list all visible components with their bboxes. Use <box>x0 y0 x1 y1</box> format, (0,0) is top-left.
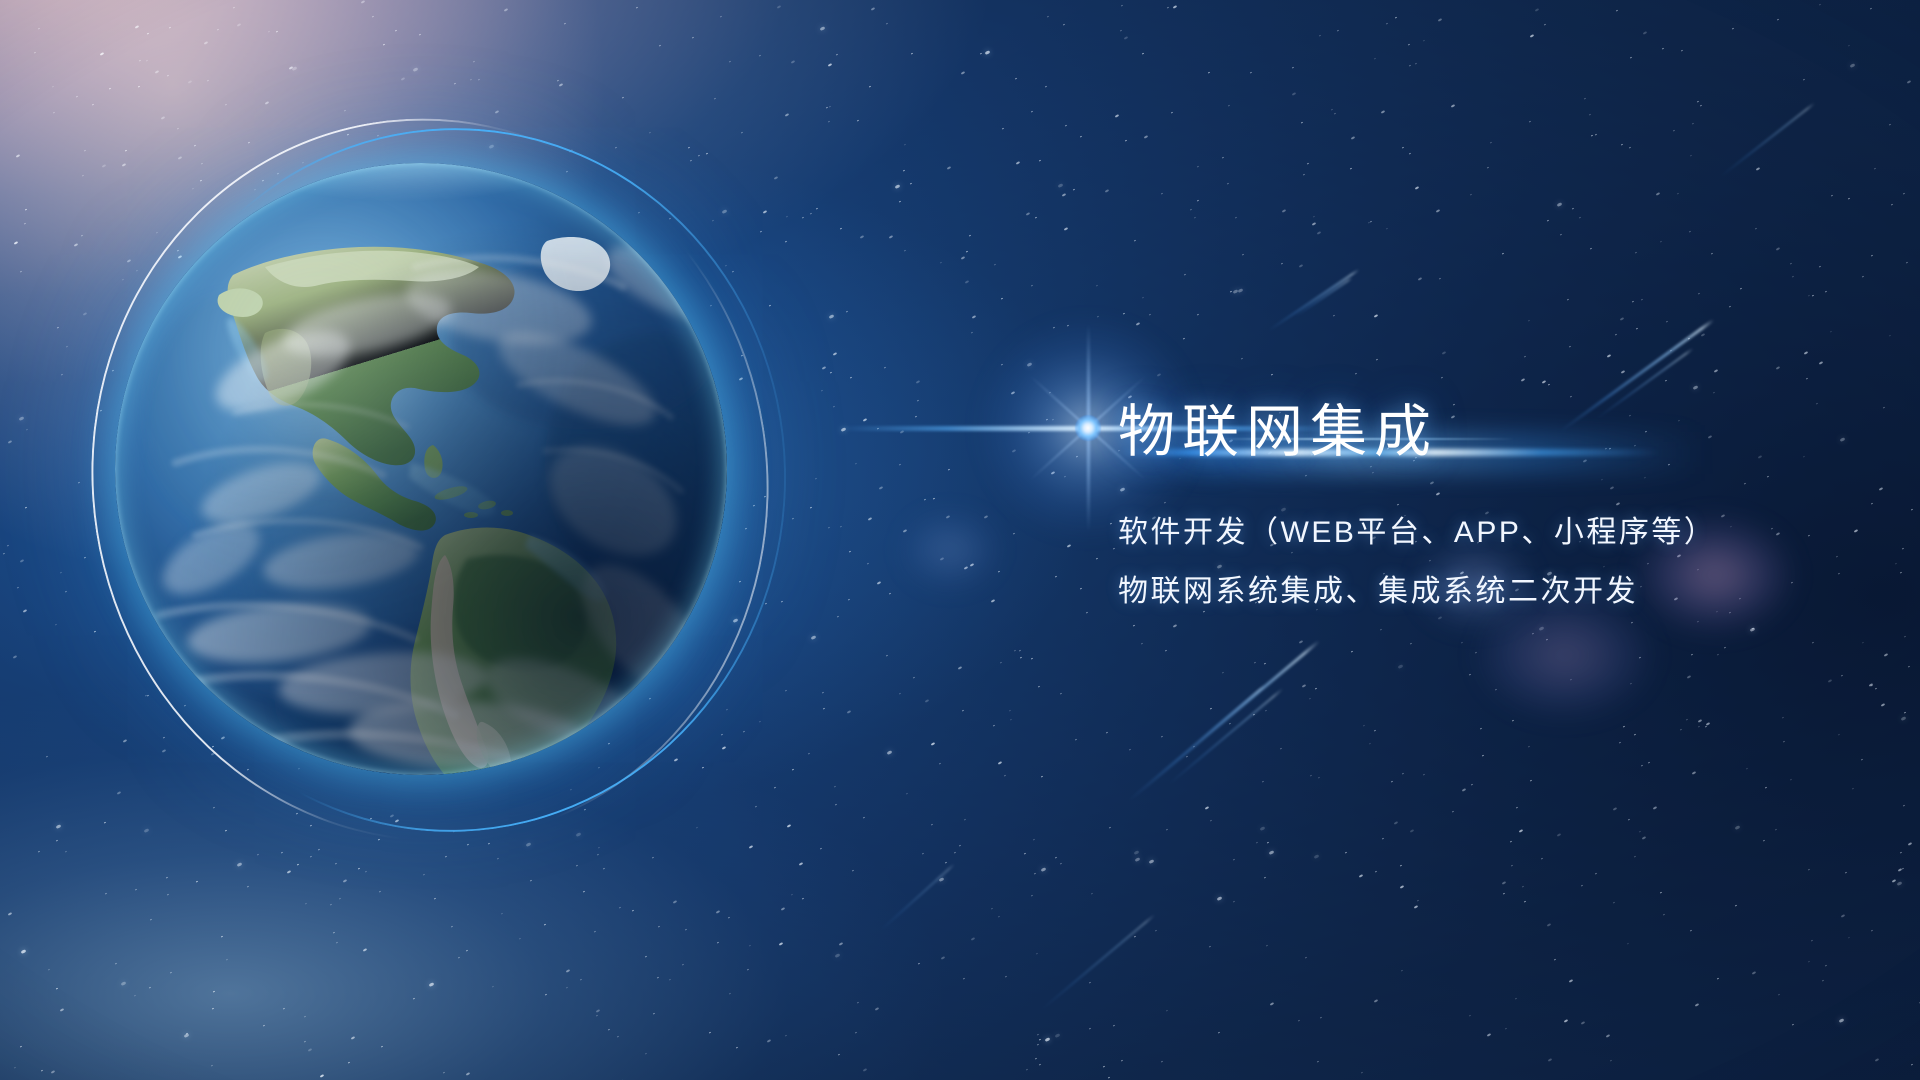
comet-streak <box>1127 640 1321 803</box>
comet-streak-tail <box>1167 688 1283 786</box>
iot-integration-banner: 物联网集成 软件开发（WEB平台、APP、小程序等） 物联网系统集成、集成系统二… <box>0 0 1920 1080</box>
banner-text-block: 物联网集成 软件开发（WEB平台、APP、小程序等） 物联网系统集成、集成系统二… <box>1118 404 1818 607</box>
comet-streak <box>1267 269 1360 332</box>
comet-streak-tail <box>1294 277 1353 317</box>
comet-streak-tail <box>1719 102 1815 177</box>
banner-subtitle-line-1: 软件开发（WEB平台、APP、小程序等） <box>1118 518 1818 548</box>
comet-streak-tail <box>1267 269 1360 332</box>
comet-streak-tail <box>1039 914 1155 1012</box>
comet-streak <box>1167 688 1283 786</box>
comet-streak <box>1039 914 1155 1012</box>
comet-streak-tail <box>1127 640 1321 803</box>
lens-flare-ghost-3 <box>1480 595 1650 715</box>
comet-streak <box>1294 277 1353 317</box>
comet-streak <box>1195 684 1265 743</box>
banner-title: 物联网集成 <box>1118 404 1818 461</box>
comet-streak-tail <box>879 863 955 931</box>
lens-flare-ghost-4 <box>905 515 995 585</box>
lens-flare-vertical-streak <box>1087 324 1090 532</box>
comet-streak <box>879 863 955 931</box>
comet-streak <box>1719 102 1815 177</box>
banner-subtitle-line-2: 物联网系统集成、集成系统二次开发 <box>1118 577 1818 607</box>
comet-streak-tail <box>1195 684 1265 743</box>
